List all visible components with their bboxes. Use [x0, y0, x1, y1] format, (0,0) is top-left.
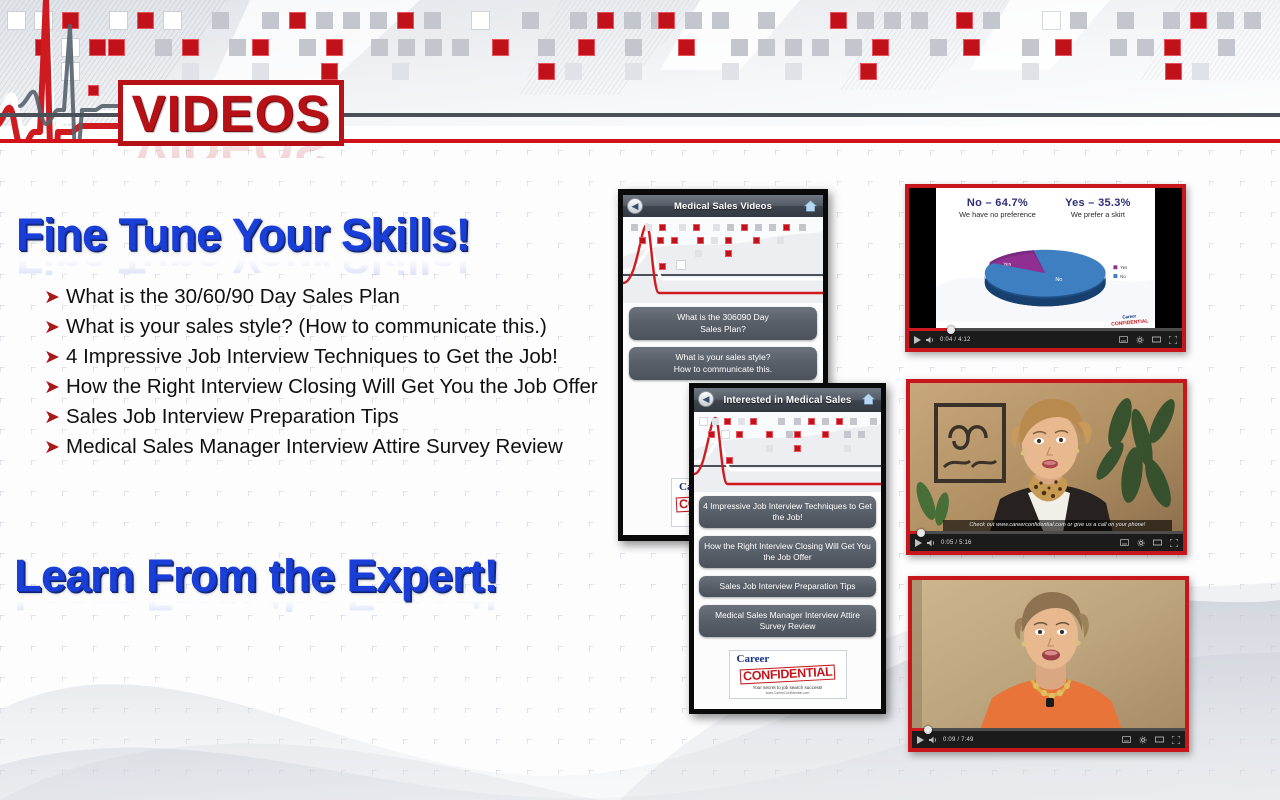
- phone-menu: 4 Impressive Job Interview Techniques to…: [699, 496, 876, 645]
- theater-mode-icon[interactable]: [1153, 539, 1162, 546]
- list-item-label: Sales Job Interview Preparation Tips: [66, 403, 399, 429]
- career-confidential-logo: Career CONFIDENTIAL Your secret to job s…: [729, 650, 847, 699]
- phone-menu-item-interview-closing[interactable]: How the Right Interview Closing Will Get…: [699, 536, 876, 568]
- logo-url: www.CareerConfidential.com: [734, 691, 842, 696]
- video-controls-bar[interactable]: 0:09 / 7:49: [912, 731, 1185, 748]
- arrow-bullet-icon: ➤: [44, 403, 66, 431]
- list-item: ➤ Sales Job Interview Preparation Tips: [44, 403, 604, 431]
- video-stage: No – 64.7% We have no preference Yes – 3…: [909, 188, 1182, 331]
- svg-text:No: No: [1056, 277, 1063, 283]
- video-thumbnail-woman-scarf: [910, 383, 1183, 534]
- phone-navbar: ◀ Medical Sales Videos: [623, 195, 823, 217]
- phone-screen: ◀ Interested in Medical Sales: [694, 388, 881, 709]
- settings-gear-icon[interactable]: [1136, 336, 1144, 344]
- logo-confidential-stamp: CONFIDENTIAL: [739, 665, 835, 685]
- fullscreen-icon[interactable]: [1169, 336, 1177, 344]
- captions-icon[interactable]: [1122, 736, 1131, 743]
- play-icon[interactable]: [914, 336, 921, 344]
- phone-menu: What is the 306090 Day Sales Plan? What …: [629, 307, 817, 387]
- heading-fine-tune-reflection: Fine Tune Your Skills!: [16, 258, 470, 280]
- svg-text:Yes: Yes: [1004, 261, 1012, 267]
- video-caption: Check out www.careerconfidential.com or …: [943, 520, 1172, 531]
- video-progress-bar[interactable]: [909, 328, 1182, 331]
- page-title-text: VIDEOS: [132, 88, 331, 139]
- video-player[interactable]: No – 64.7% We have no preference Yes – 3…: [909, 188, 1182, 348]
- phone-navbar-title: Interested in Medical Sales: [724, 395, 852, 406]
- theater-mode-icon[interactable]: [1155, 736, 1164, 743]
- phone-mockup-interested-in-medical-sales[interactable]: ◀ Interested in Medical Sales: [689, 383, 886, 714]
- volume-icon[interactable]: [926, 336, 935, 344]
- video-stage: [912, 580, 1185, 731]
- phone-body: 4 Impressive Job Interview Techniques to…: [694, 412, 881, 709]
- video-thumbnail-woman-orange: [912, 580, 1185, 731]
- arrow-bullet-icon: ➤: [44, 373, 66, 401]
- list-item: ➤ Medical Sales Manager Interview Attire…: [44, 433, 604, 461]
- pie-chart-slide: No – 64.7% We have no preference Yes – 3…: [936, 188, 1154, 331]
- video-time: 0:05 / 5:16: [941, 540, 972, 546]
- video-player[interactable]: 0:09 / 7:49: [912, 580, 1185, 748]
- video-player[interactable]: Check out www.careerconfidential.com or …: [910, 383, 1183, 551]
- home-icon[interactable]: [860, 391, 877, 407]
- play-icon[interactable]: [917, 736, 924, 744]
- home-icon[interactable]: [802, 198, 819, 214]
- chevron-left-icon[interactable]: ◀: [698, 391, 714, 407]
- list-item: ➤ What is the 30/60/90 Day Sales Plan: [44, 283, 604, 311]
- heading-fine-tune: Fine Tune Your Skills!: [16, 212, 470, 257]
- page-title: VIDEOS: [118, 80, 344, 146]
- heading-learn-from-expert-reflection: Learn From the Expert!: [14, 599, 498, 617]
- chevron-left-icon[interactable]: ◀: [627, 198, 643, 214]
- heading-learn-from-expert: Learn From the Expert!: [14, 553, 498, 598]
- slide-canvas: VIDEOS VIDEOS Fine Tune Your Skills! Fin…: [0, 0, 1280, 800]
- phone-menu-item-preparation-tips[interactable]: Sales Job Interview Preparation Tips: [699, 576, 876, 597]
- captions-icon[interactable]: [1120, 539, 1129, 546]
- settings-gear-icon[interactable]: [1139, 736, 1147, 744]
- svg-text:Yes: Yes: [1121, 265, 1128, 270]
- video-progress-bar[interactable]: [912, 728, 1185, 731]
- video-card-sales-plan[interactable]: 0:09 / 7:49: [908, 576, 1189, 752]
- list-item: ➤ 4 Impressive Job Interview Techniques …: [44, 343, 604, 371]
- phone-menu-item-impressive-techniques[interactable]: 4 Impressive Job Interview Techniques to…: [699, 496, 876, 528]
- volume-icon[interactable]: [929, 736, 938, 744]
- list-item-label: What is the 30/60/90 Day Sales Plan: [66, 283, 400, 309]
- list-item-label: What is your sales style? (How to commun…: [66, 313, 547, 339]
- phone-menu-item[interactable]: What is the 306090 Day Sales Plan?: [629, 307, 817, 340]
- video-card-attire-survey[interactable]: No – 64.7% We have no preference Yes – 3…: [905, 184, 1186, 352]
- list-item: ➤ How the Right Interview Closing Will G…: [44, 373, 604, 401]
- arrow-bullet-icon: ➤: [44, 283, 66, 311]
- captions-icon[interactable]: [1119, 336, 1128, 343]
- settings-gear-icon[interactable]: [1137, 539, 1145, 547]
- video-progress-bar[interactable]: [910, 531, 1183, 534]
- arrow-bullet-icon: ➤: [44, 433, 66, 461]
- svg-text:No: No: [1121, 274, 1127, 279]
- fullscreen-icon[interactable]: [1172, 736, 1180, 744]
- list-item-label: 4 Impressive Job Interview Techniques to…: [66, 343, 558, 369]
- arrow-bullet-icon: ➤: [44, 313, 66, 341]
- fullscreen-icon[interactable]: [1170, 539, 1178, 547]
- list-item-label: How the Right Interview Closing Will Get…: [66, 373, 598, 399]
- video-stage: Check out www.careerconfidential.com or …: [910, 383, 1183, 534]
- video-card-interview-closing[interactable]: Check out www.careerconfidential.com or …: [906, 379, 1187, 555]
- video-controls-bar[interactable]: 0:05 / 5:16: [910, 534, 1183, 551]
- list-item: ➤ What is your sales style? (How to comm…: [44, 313, 604, 341]
- theater-mode-icon[interactable]: [1152, 336, 1161, 343]
- arrow-bullet-icon: ➤: [44, 343, 66, 371]
- topic-list: ➤ What is the 30/60/90 Day Sales Plan ➤ …: [44, 283, 604, 463]
- volume-icon[interactable]: [927, 539, 936, 547]
- phone-banner: [694, 412, 881, 492]
- phone-navbar: ◀ Interested in Medical Sales: [694, 388, 881, 412]
- list-item-label: Medical Sales Manager Interview Attire S…: [66, 433, 563, 459]
- phone-navbar-title: Medical Sales Videos: [674, 201, 772, 212]
- pie-chart: Yes No Yes No: [936, 188, 1154, 331]
- phone-menu-item[interactable]: What is your sales style? How to communi…: [629, 347, 817, 380]
- video-time: 0:04 / 4:12: [940, 337, 971, 343]
- phone-menu-item-attire-survey[interactable]: Medical Sales Manager Interview Attire S…: [699, 605, 876, 637]
- phone-banner: [623, 217, 823, 303]
- video-controls-bar[interactable]: 0:04 / 4:12: [909, 331, 1182, 348]
- play-icon[interactable]: [915, 539, 922, 547]
- video-time: 0:09 / 7:49: [943, 737, 974, 743]
- logo-career-text: Career: [734, 654, 842, 665]
